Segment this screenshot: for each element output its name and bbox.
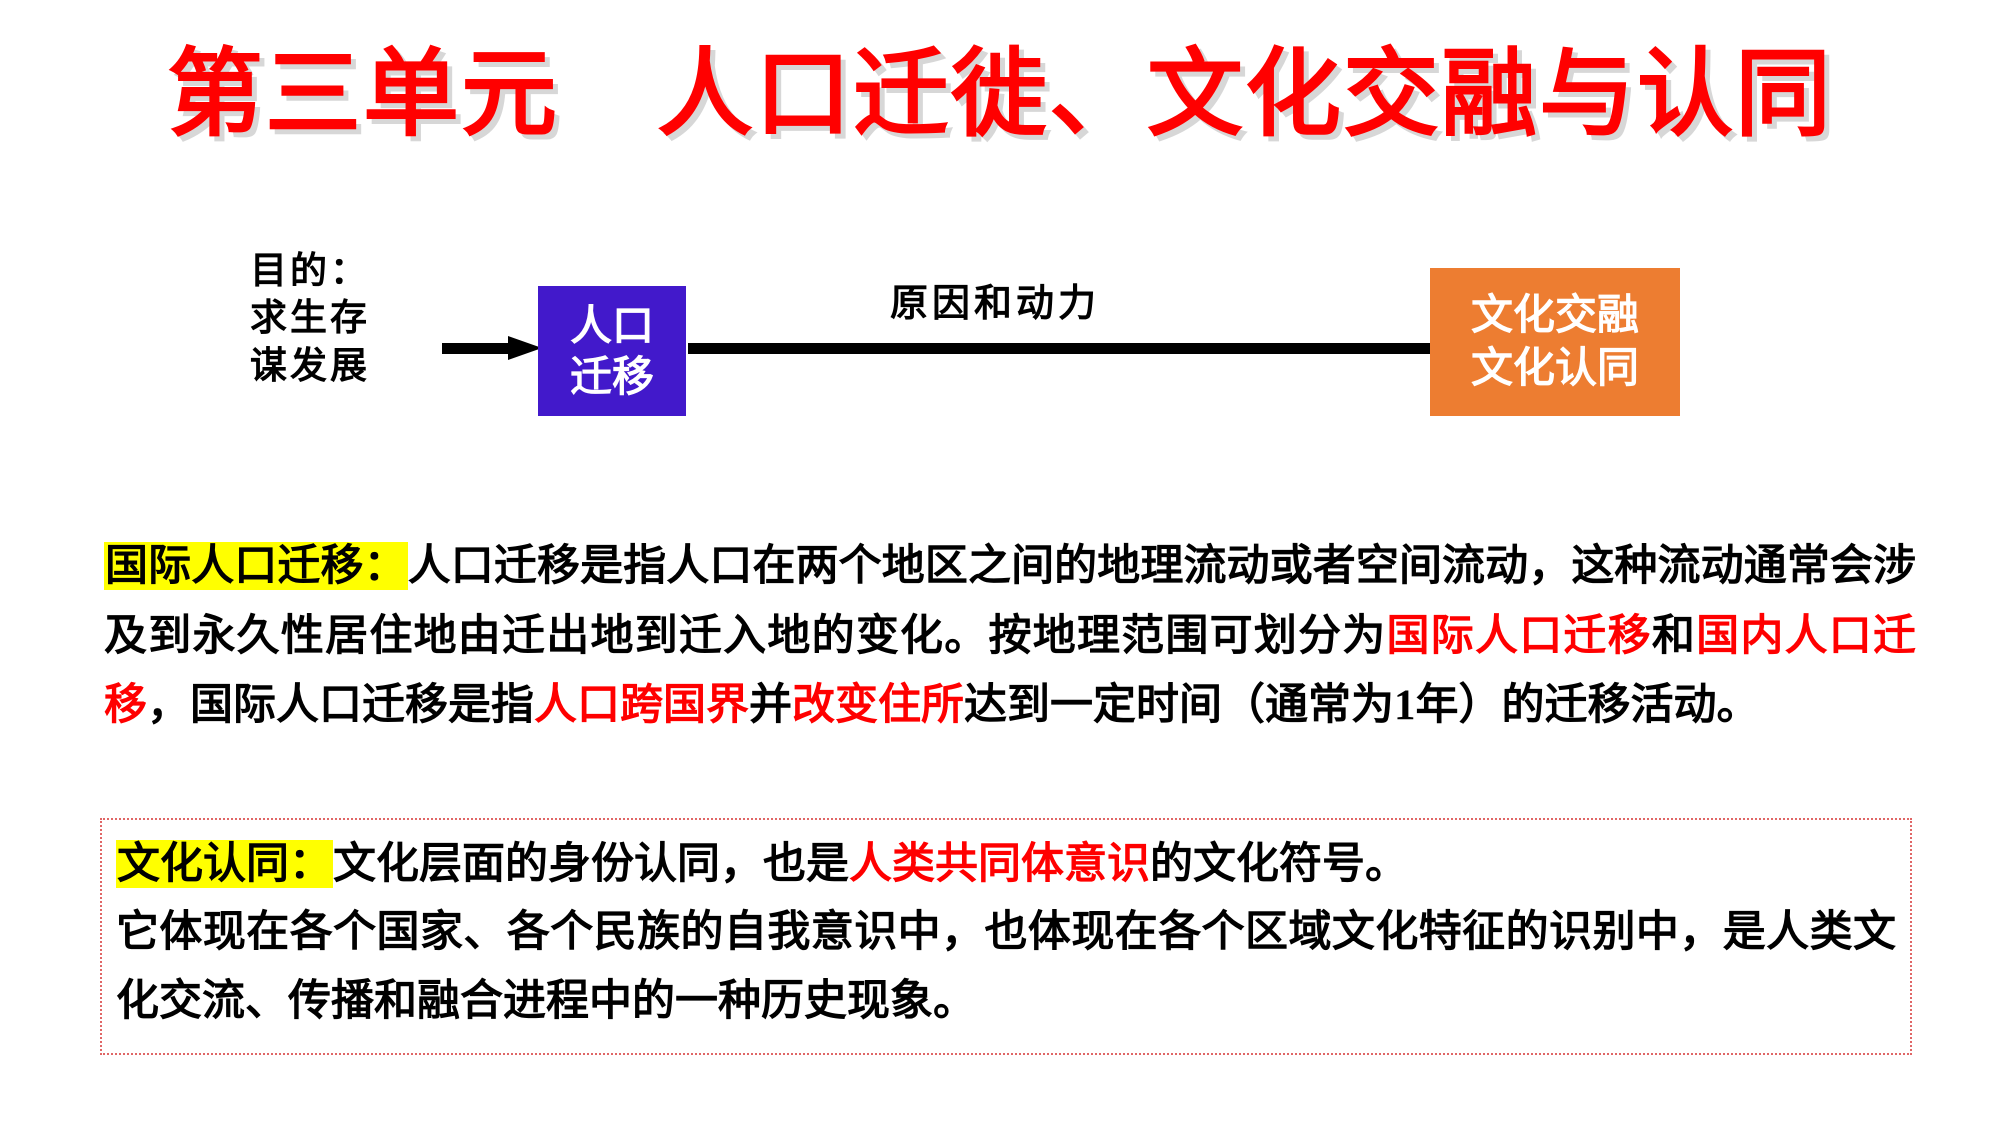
flow-diagram: 目的： 求生存 谋发展 人口 迁移 原因和动力 文化交融 文化认同 [250,262,1680,422]
arrow-purpose-to-migration [442,336,542,360]
migration-term: 国际人口迁移 [105,542,364,590]
identity-head-run-1: 人类共同体意识 [849,840,1150,888]
arrow-migration-to-culture [688,336,1558,360]
identity-term-colon: ： [289,840,332,888]
culture-box: 文化交融 文化认同 [1430,268,1680,416]
arrow-label-cause: 原因和动力 [890,272,1100,327]
migration-paragraph: 国际人口迁移：人口迁移是指人口在两个地区之间的地理流动或者空间流动，这种流动通常… [104,532,1916,741]
migration-run-2: 和 [1652,613,1696,660]
migration-box: 人口 迁移 [538,286,686,416]
identity-head-run-0: 文化层面的身份认同，也是 [333,840,849,888]
migration-run-8: 达到一定时间（通常为1年）的迁移活动。 [964,682,1760,729]
migration-run-6: 并 [749,682,792,729]
migration-run-4: ，国际人口迁移是指 [147,682,534,729]
identity-term-highlight: 文化认同： [116,840,333,888]
page-title: 第三单元 人口迁徙、文化交融与认同 [0,42,2000,148]
identity-term: 文化认同 [117,840,289,888]
identity-section-panel: 文化认同：文化层面的身份认同，也是人类共同体意识的文化符号。 它体现在各个国家、… [100,818,1912,1055]
identity-head-run-2: 的文化符号。 [1150,840,1408,888]
identity-body-text: 它体现在各个国家、各个民族的自我意识中，也体现在各个区域文化特征的识别中，是人类… [116,898,1896,1037]
migration-lead-sentence: 人口迁移是指人口在两个地区之间的地理流动或者空间流动，这种 [408,542,1658,590]
migration-section: 国际人口迁移：人口迁移是指人口在两个地区之间的地理流动或者空间流动，这种流动通常… [104,532,1916,741]
purpose-label: 目的： 求生存 谋发展 [250,248,430,390]
migration-run-7: 改变住所 [792,682,964,729]
identity-heading-line: 文化认同：文化层面的身份认同，也是人类共同体意识的文化符号。 [116,832,1896,898]
migration-term-highlight: 国际人口迁移： [104,542,408,590]
migration-term-colon: ： [364,542,407,590]
migration-run-5: 人口跨国界 [534,682,749,729]
migration-run-1: 国际人口迁移 [1387,613,1652,660]
